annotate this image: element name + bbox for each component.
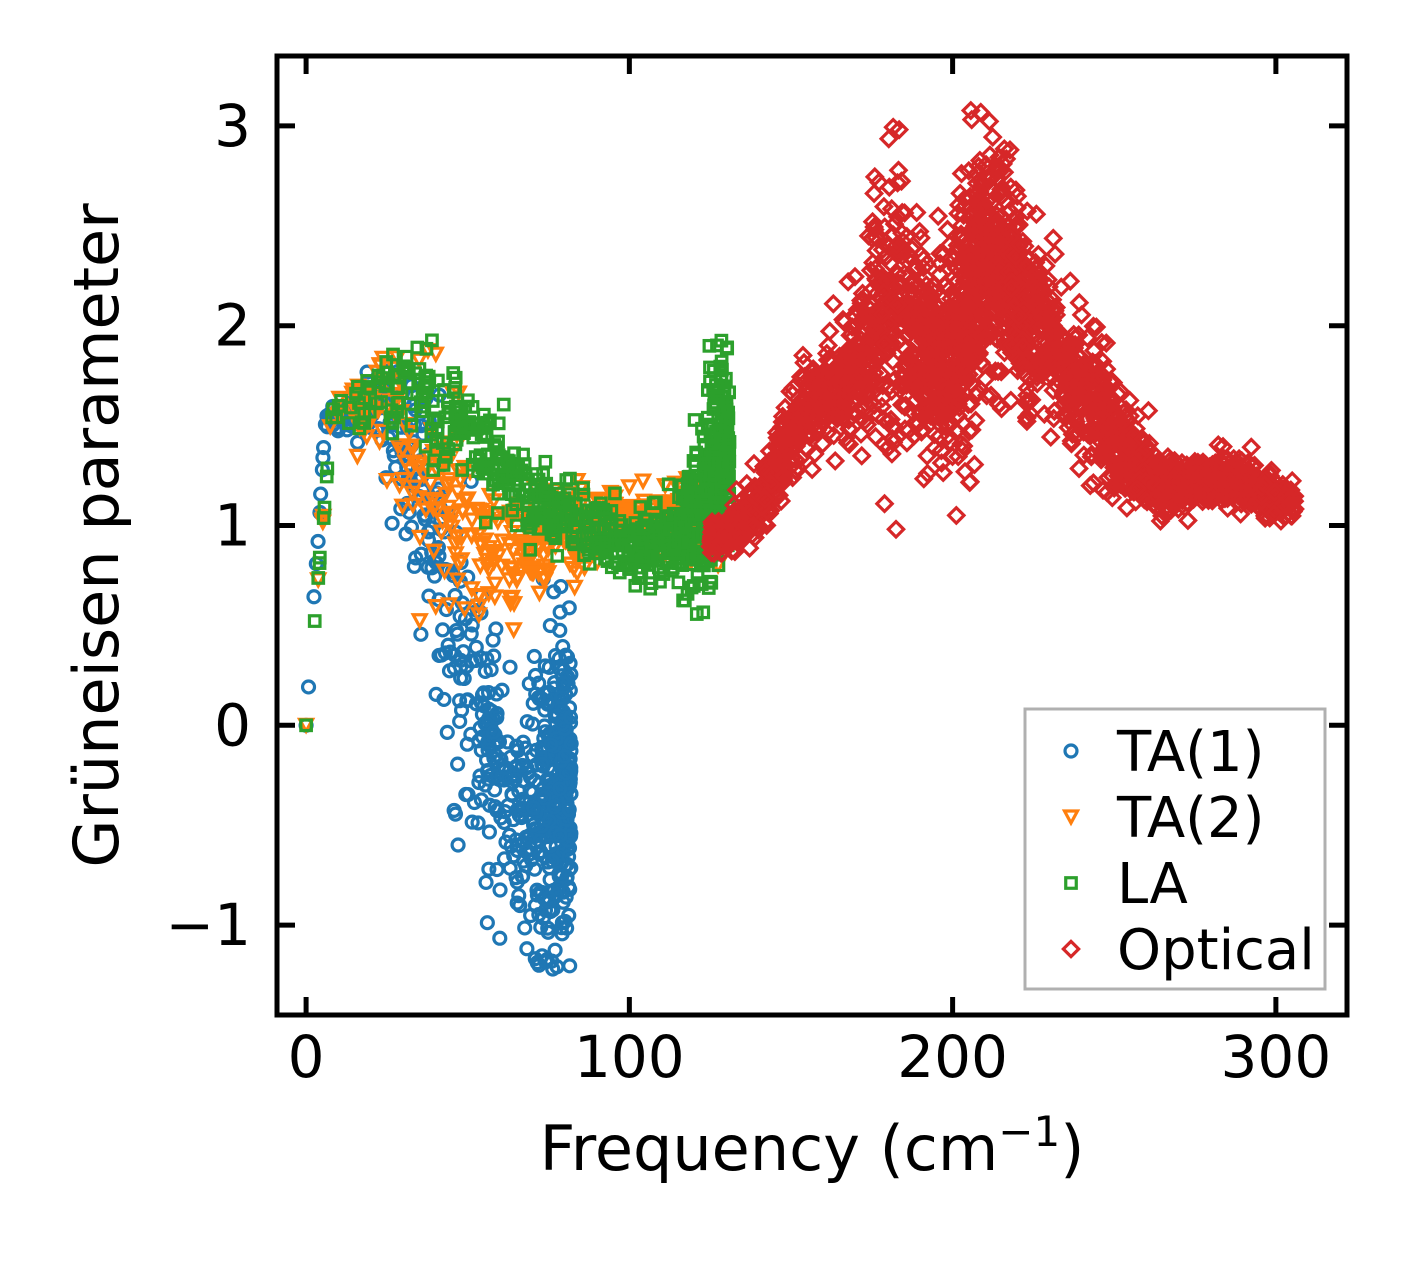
data-point [415,628,427,640]
data-point [386,517,398,529]
data-point [437,624,449,636]
data-point [380,475,393,487]
data-point [949,508,964,523]
data-point [498,399,509,410]
data-point [630,580,641,591]
data-point [1046,231,1061,246]
data-point [804,462,819,477]
data-point-origin [301,720,312,731]
data-point [888,522,903,537]
data-point [401,351,412,362]
data-point [507,624,520,636]
data-point [826,296,841,311]
data-point [822,324,837,339]
data-point [667,565,678,576]
data-point [552,551,563,562]
data-point [1244,440,1259,455]
data-point [1043,429,1058,444]
data-point [519,922,531,934]
scatter-plot: 0100200300−10123Frequency (cm−1)Grüneise… [0,0,1406,1264]
data-point [481,917,493,929]
data-point [303,681,315,693]
data-point [413,531,426,543]
data-point [309,616,320,627]
data-point [452,758,464,770]
series-la [301,335,735,730]
data-point [930,209,945,224]
data-point [854,448,869,463]
data-point [441,726,453,738]
data-point [540,457,551,468]
data-point [623,481,636,493]
data-point [494,932,506,944]
data-point [308,591,320,603]
data-point [480,876,492,888]
data-point [565,473,576,484]
data-point [673,577,684,588]
figure-container: 0100200300−10123Frequency (cm−1)Grüneise… [0,0,1406,1264]
data-point [828,453,843,468]
data-point [704,341,715,352]
data-point [352,436,364,448]
data-point [313,573,324,584]
data-point [689,415,700,426]
data-point [504,862,516,874]
data-point [528,650,540,662]
data-point [533,587,546,599]
data-point [1047,246,1062,261]
data-point [420,441,431,452]
data-point [568,581,581,593]
data-point [491,864,503,876]
data-point [564,960,576,972]
data-point [494,884,506,896]
data-point [637,475,650,487]
data-point [351,450,364,462]
data-point [483,826,495,838]
data-point [985,129,1000,144]
series-optical [703,103,1303,561]
data-point [312,535,324,547]
data-point [877,496,892,511]
data-point [433,375,444,386]
data-point [452,839,464,851]
data-point [412,342,423,353]
data-point [315,488,327,500]
data-point [413,615,426,627]
data-point [504,661,516,673]
data-point [422,380,433,391]
